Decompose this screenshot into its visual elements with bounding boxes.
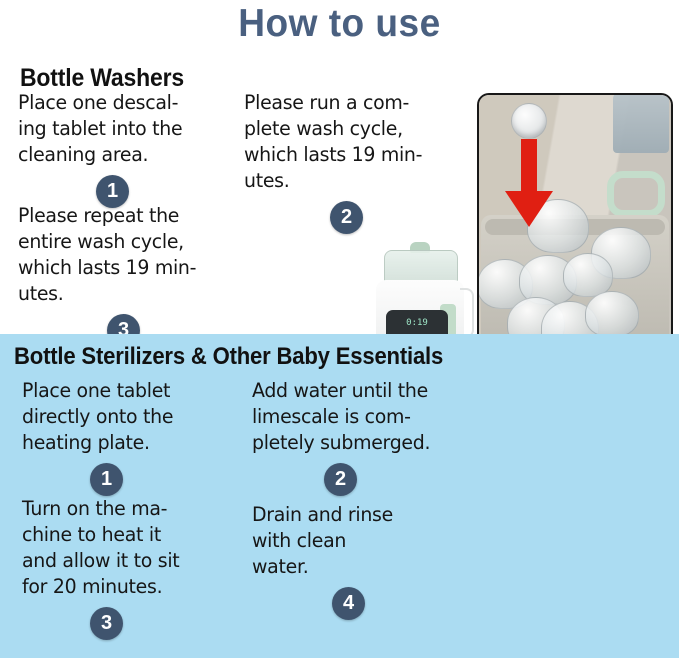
- red-arrow-icon: [503, 139, 555, 229]
- bottle-washer-basket-photo: [477, 93, 673, 375]
- step-badge-2: 2: [330, 201, 363, 234]
- step-item: Add water until the limescale is com- pl…: [252, 378, 478, 456]
- step-text: Please run a com- plete wash cycle, whic…: [244, 90, 459, 194]
- step-text: Place one tablet directly onto the heati…: [22, 378, 237, 456]
- step-badge-3: 3: [90, 607, 123, 640]
- photo-jar: [613, 93, 669, 153]
- step-item: Please run a com- plete wash cycle, whic…: [244, 90, 466, 194]
- step-badge-4: 4: [332, 587, 365, 620]
- section-heading-bottle-sterilizers: Bottle Sterilizers & Other Baby Essentia…: [14, 343, 443, 371]
- section-bottle-sterilizers: Bottle Sterilizers & Other Baby Essentia…: [0, 334, 679, 658]
- step-item: Place one tablet directly onto the heati…: [22, 378, 244, 456]
- step-badge-1: 1: [90, 463, 123, 496]
- step-text: Turn on the ma- chine to heat it and all…: [22, 496, 237, 600]
- step-badge-2: 2: [324, 463, 357, 496]
- appliance-display: 0:19: [396, 317, 438, 329]
- bottle-dome: [585, 291, 639, 337]
- descaling-tablet: [511, 103, 547, 139]
- appliance-handle: [460, 288, 474, 338]
- step-text: Drain and rinse with clean water.: [252, 502, 427, 580]
- page-title: How to use: [17, 2, 662, 46]
- step-item: Drain and rinse with clean water. 4: [252, 502, 432, 580]
- step-text: Please repeat the entire wash cycle, whi…: [18, 203, 229, 307]
- how-to-use-infographic: How to use Bottle Washers Place one desc…: [0, 0, 679, 658]
- photo-green-handle: [607, 171, 665, 217]
- step-text: Add water until the limescale is com- pl…: [252, 378, 471, 456]
- section-bottle-washers: Bottle Washers Place one descal- ing tab…: [0, 48, 679, 334]
- bottle-dome: [563, 253, 613, 297]
- section-heading-bottle-washers: Bottle Washers: [20, 64, 184, 93]
- step-item: Please repeat the entire wash cycle, whi…: [18, 203, 236, 307]
- step-item: Place one descal- ing tablet into the cl…: [18, 90, 236, 168]
- step-text: Place one descal- ing tablet into the cl…: [18, 90, 229, 168]
- photo-content: [479, 95, 671, 373]
- step-item: Turn on the ma- chine to heat it and all…: [22, 496, 244, 600]
